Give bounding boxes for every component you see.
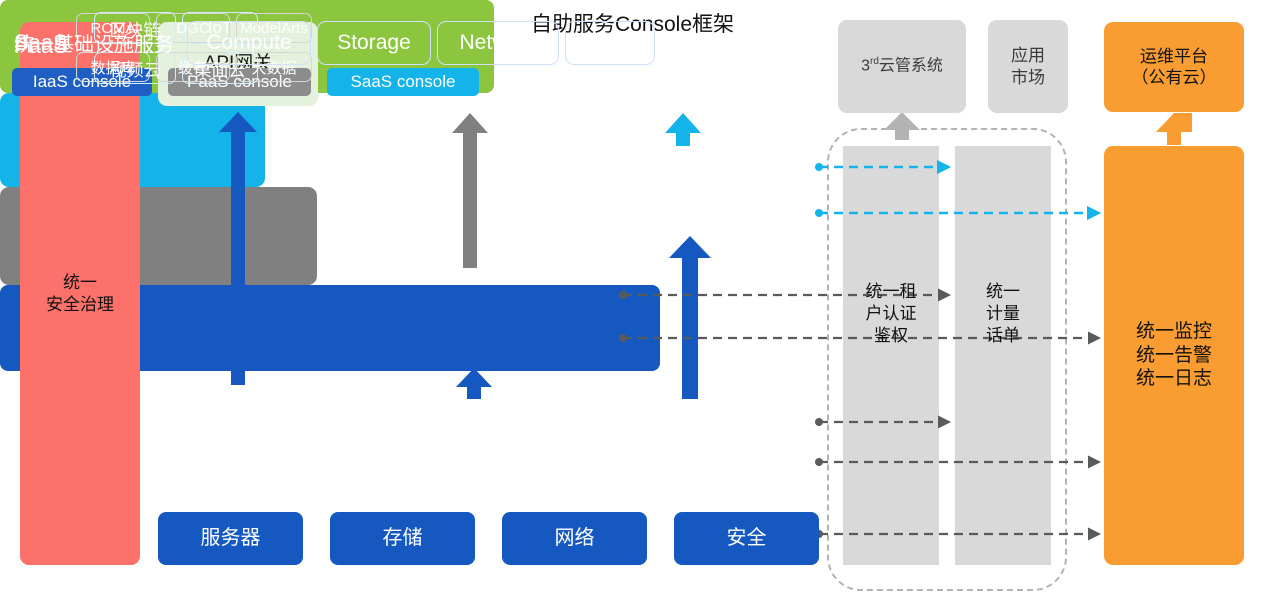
unified-monitoring-label: 统一监控统一告警统一日志 — [1136, 320, 1212, 391]
shared-column-auth — [843, 146, 939, 565]
unified-security-governance-panel: 统一安全治理 — [20, 22, 140, 565]
unified-monitoring-box: 统一监控统一告警统一日志 — [1104, 146, 1244, 565]
third-party-cloud-mgmt-box: 3rd云管系统 — [838, 20, 966, 113]
app-market-box: 应用市场 — [988, 20, 1068, 113]
saas-console-chip[interactable]: SaaS console — [327, 68, 479, 96]
infra-chip-cce[interactable]: CCE — [565, 21, 655, 65]
ops-platform-public-cloud-box: 运维平台（公有云） — [1104, 22, 1244, 112]
governance-label: 统一安全治理 — [46, 272, 114, 315]
arrow-infra-to-paas — [456, 368, 492, 399]
resource-box-security: 安全 — [674, 512, 819, 565]
architecture-diagram: 统一安全治理 API网关 自助服务Console框架 IaaS console … — [0, 0, 1265, 605]
shared-billing-label: 统一计量话单 — [955, 281, 1051, 347]
resource-box-server: 服务器 — [158, 512, 303, 565]
arrow-ops-up — [1156, 113, 1192, 145]
third-party-superscript: rd — [870, 56, 879, 67]
infra-chip-network[interactable]: Network — [437, 21, 559, 65]
shared-auth-label: 统一租户认证鉴权 — [843, 281, 939, 347]
resource-box-storage: 存储 — [330, 512, 475, 565]
resource-box-network: 网络 — [502, 512, 647, 565]
arrow-infra-to-saas — [669, 236, 711, 399]
app-market-label: 应用市场 — [1011, 45, 1045, 88]
infra-chip-storage[interactable]: Storage — [317, 21, 431, 65]
arrow-paas-to-console — [452, 113, 488, 268]
arrow-saas-to-console — [665, 113, 701, 146]
shared-column-billing — [955, 146, 1051, 565]
ops-platform-label: 运维平台（公有云） — [1132, 46, 1217, 89]
infra-chip-compute[interactable]: Compute — [187, 21, 311, 65]
third-party-label: 3rd云管系统 — [861, 56, 943, 76]
unified-infrastructure-label: 统一基础设施服务 — [14, 28, 174, 57]
